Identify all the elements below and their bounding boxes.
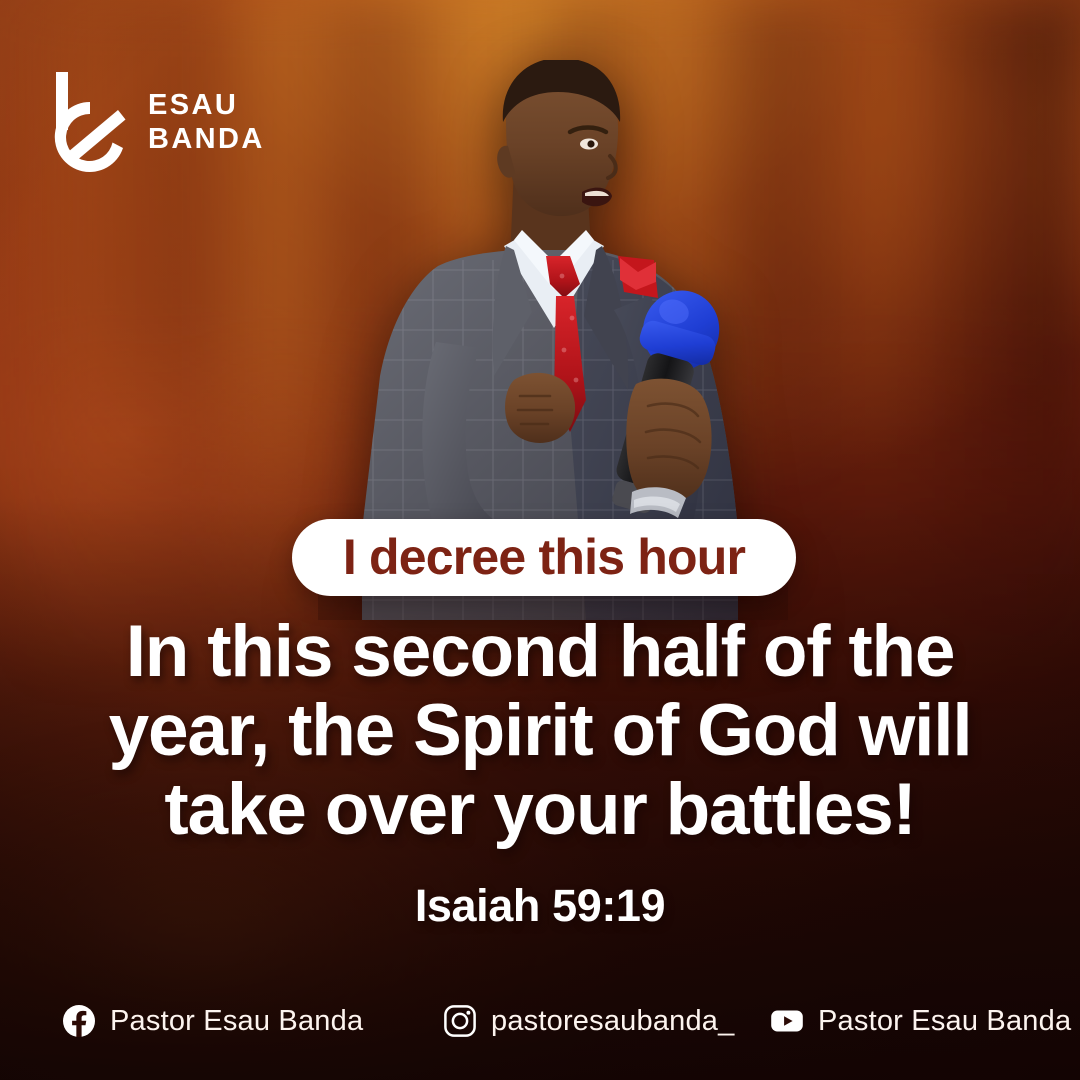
scripture-reference: Isaiah 59:19 [0, 880, 1080, 932]
social-item-instagram[interactable]: pastoresaubanda_ [443, 1004, 734, 1038]
decree-pill: I decree this hour [292, 519, 796, 596]
brand-logo: ESAU BANDA [48, 68, 265, 176]
brand-name: ESAU BANDA [148, 88, 265, 156]
social-item-youtube[interactable]: Pastor Esau Banda [770, 1004, 1071, 1038]
youtube-handle: Pastor Esau Banda [818, 1005, 1071, 1038]
headline-line-3: take over your battles! [60, 770, 1020, 849]
brand-name-line1: ESAU [148, 89, 238, 121]
be-monogram-icon [48, 68, 132, 176]
facebook-icon [62, 1004, 96, 1038]
instagram-icon [443, 1004, 477, 1038]
social-media-poster: ESAU BANDA I decree this hour In this se… [0, 0, 1080, 1080]
headline-line-2: year, the Spirit of God will [60, 691, 1020, 770]
headline-line-1: In this second half of the [60, 612, 1020, 691]
headline: In this second half of the year, the Spi… [60, 612, 1020, 849]
decree-pill-label: I decree this hour [343, 528, 745, 586]
social-footer: Pastor Esau Banda pastoresaubanda_ Pasto… [0, 994, 1080, 1048]
youtube-icon [770, 1004, 804, 1038]
social-item-facebook[interactable]: Pastor Esau Banda [62, 1004, 363, 1038]
brand-name-line2: BANDA [148, 123, 265, 155]
facebook-handle: Pastor Esau Banda [110, 1005, 363, 1038]
instagram-handle: pastoresaubanda_ [491, 1005, 734, 1038]
